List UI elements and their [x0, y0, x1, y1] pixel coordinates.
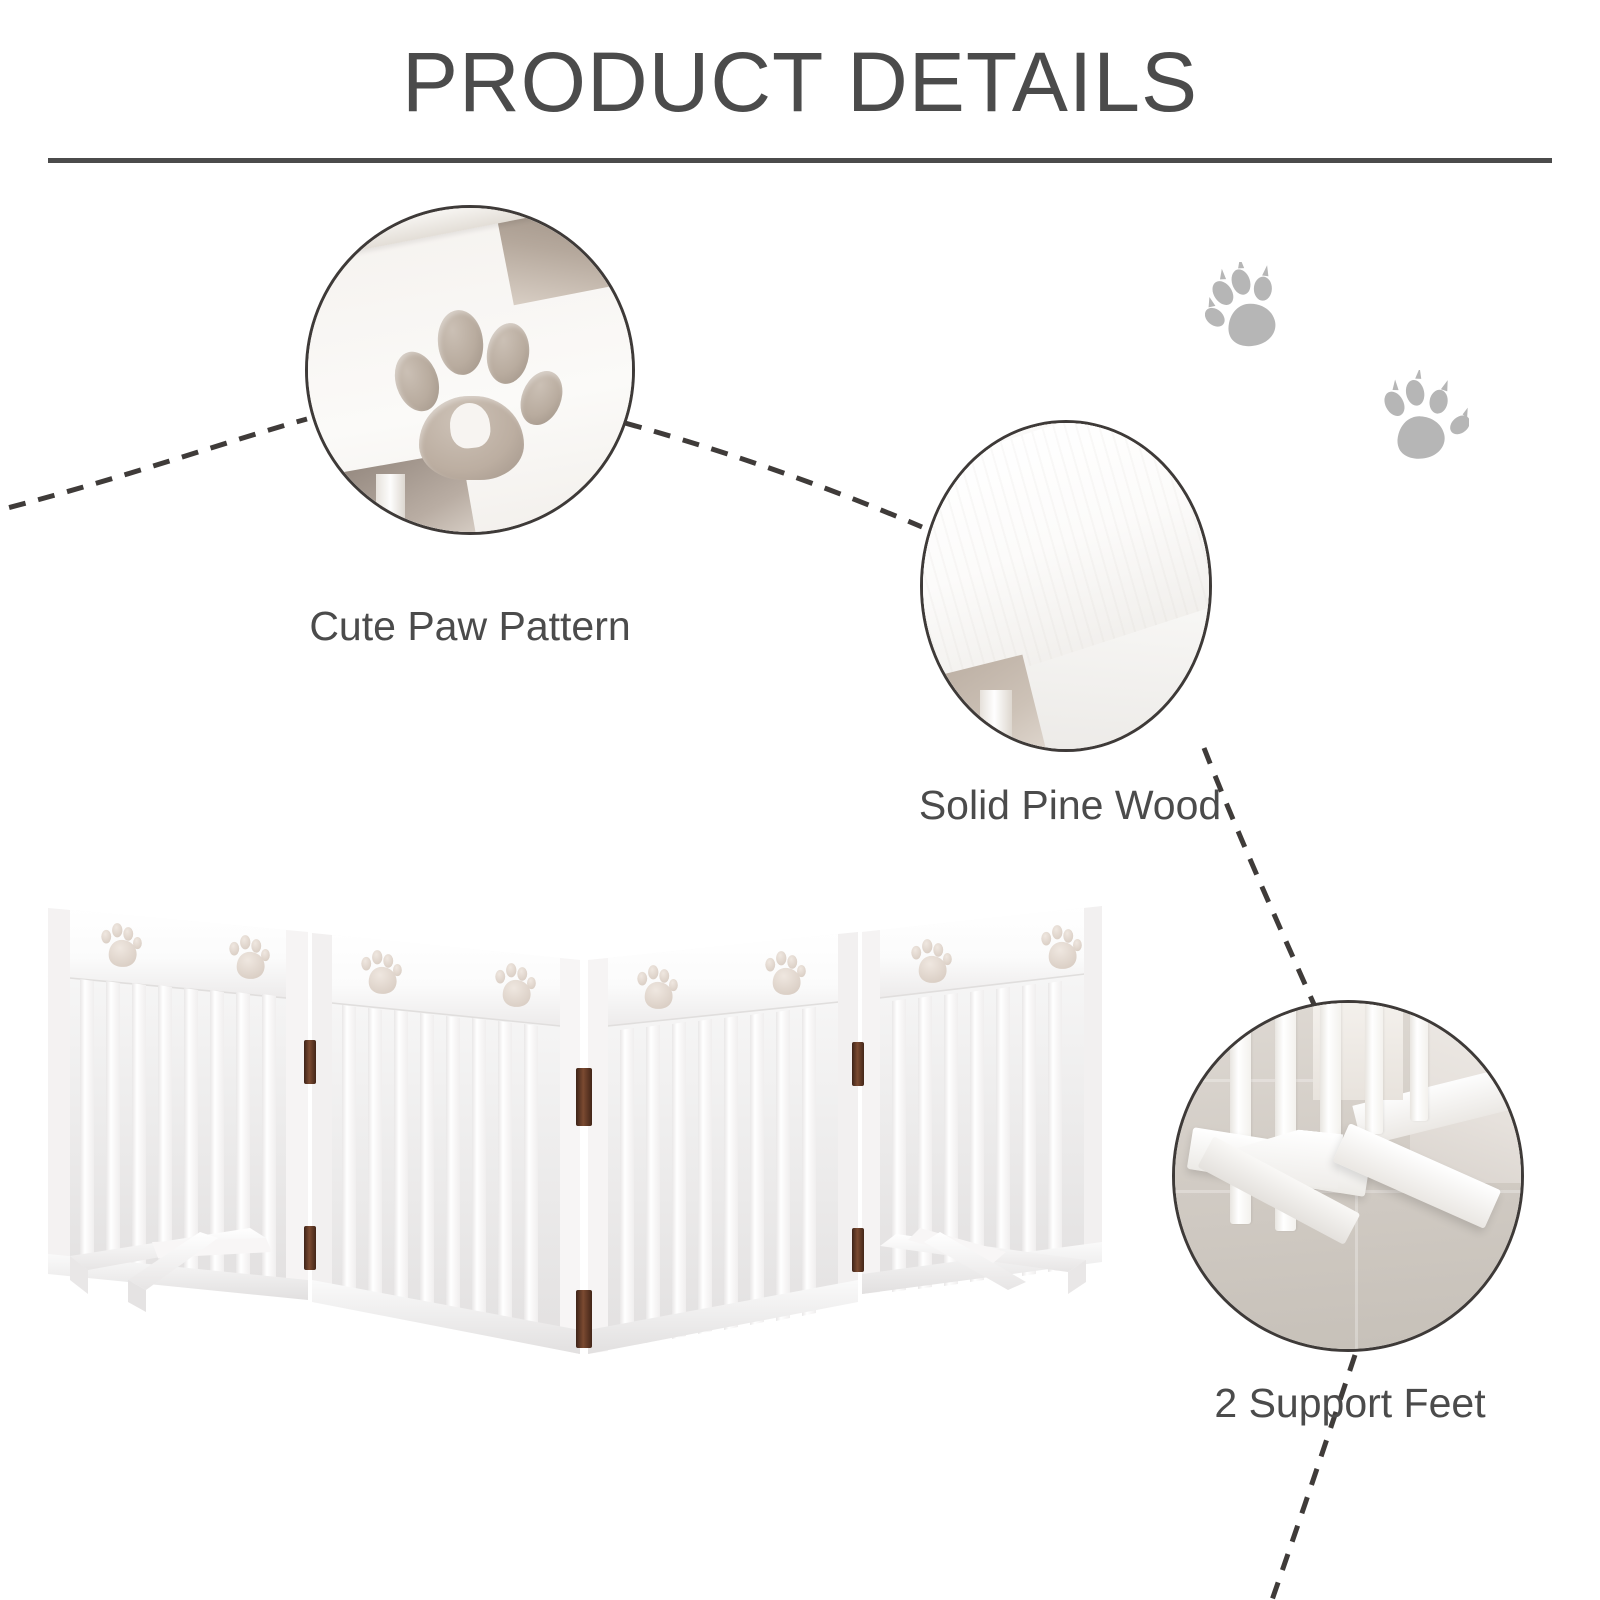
photo-pine-wood — [923, 423, 1209, 749]
photo-support-feet — [1175, 1003, 1521, 1349]
paw-print-icon — [1205, 262, 1293, 358]
caption-support-feet: 2 Support Feet — [1120, 1380, 1580, 1427]
photo-paw-cutout — [308, 208, 632, 532]
leader-circle1-to-circle2 — [625, 423, 922, 527]
gate-panel-3 — [588, 932, 858, 1354]
caption-paw-pattern: Cute Paw Pattern — [205, 603, 735, 650]
paw-print-icon — [1377, 370, 1469, 470]
caption-pine-wood: Solid Pine Wood — [860, 782, 1280, 829]
leader-left-to-circle1 — [0, 419, 307, 515]
product-image-folding-pet-gate — [40, 860, 1120, 1480]
infographic-canvas: PRODUCT DETAILS — [0, 0, 1600, 1600]
callout-image-paw-pattern — [305, 205, 635, 535]
callout-image-support-feet — [1172, 1000, 1524, 1352]
gate-panel-2 — [312, 933, 580, 1354]
callout-image-pine-wood — [920, 420, 1212, 752]
callout-pine-wood — [920, 420, 1212, 752]
callout-support-feet — [1172, 1000, 1524, 1352]
paw-cutout-shape — [392, 305, 560, 480]
callout-paw-pattern — [305, 205, 635, 535]
